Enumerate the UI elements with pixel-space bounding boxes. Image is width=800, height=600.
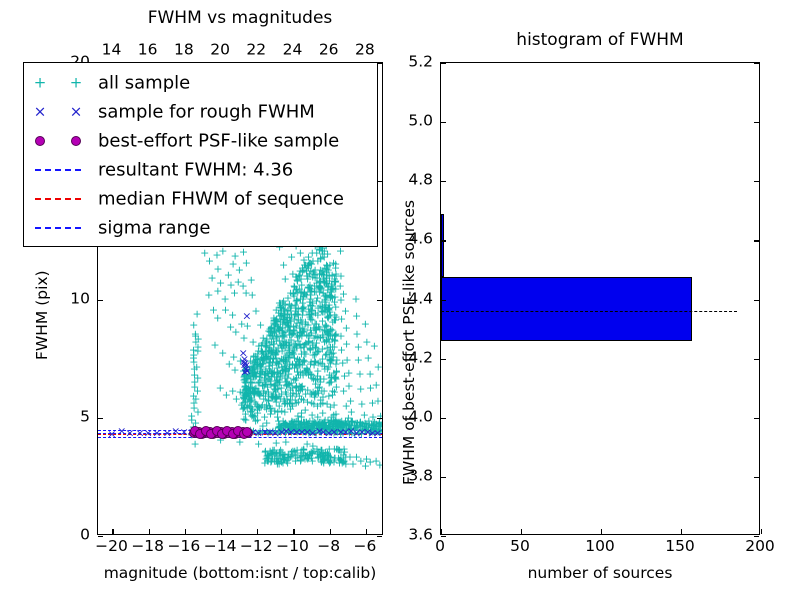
scatter-point-all-sample: +	[316, 283, 325, 294]
x-tick-bottom	[221, 529, 222, 534]
legend-item-label: best-effort PSF-like sample	[98, 131, 339, 152]
scatter-point-all-sample: +	[364, 353, 373, 364]
scatter-point-all-sample: +	[265, 449, 274, 460]
scatter-point-all-sample: +	[251, 305, 260, 316]
scatter-point-all-sample: +	[204, 289, 213, 300]
scatter-point-all-sample: +	[192, 309, 201, 320]
scatter-point-all-sample: +	[242, 257, 251, 268]
x-tick-label-bottom: −18	[131, 539, 164, 555]
hist-y-tick-left	[441, 240, 446, 241]
legend-item-label: all sample	[98, 73, 190, 94]
scatter-point-all-sample: +	[374, 361, 382, 372]
x-tick-label-bottom: −8	[317, 539, 340, 555]
scatter-point-all-sample: +	[319, 458, 328, 469]
scatter-point-all-sample: +	[313, 309, 322, 320]
scatter-point-rough-sample: ×	[242, 311, 251, 322]
hist-y-tick-right	[754, 418, 759, 419]
hist-y-tick-label: 5.0	[408, 113, 433, 129]
scatter-point-all-sample: +	[194, 334, 203, 345]
cross-marker: ×	[70, 105, 83, 120]
scatter-point-all-sample: +	[375, 459, 382, 470]
x-tick-label-bottom: −20	[95, 539, 128, 555]
hist-x-tick-label: 100	[585, 539, 615, 555]
legend-item-label: sample for rough FWHM	[98, 102, 315, 123]
scatter-point-all-sample: +	[308, 255, 317, 266]
scatter-point-rough-sample: ×	[125, 428, 134, 439]
scatter-point-all-sample: +	[287, 251, 296, 262]
histogram-plot-area	[441, 63, 759, 534]
scatter-point-all-sample: +	[221, 293, 230, 304]
hist-x-tick	[441, 529, 442, 534]
scatter-point-all-sample: +	[342, 322, 351, 333]
scatter-point-all-sample: +	[253, 354, 262, 365]
scatter-point-all-sample: +	[292, 452, 301, 463]
legend-box: ++all sample××sample for rough FWHMbest-…	[23, 62, 378, 247]
hist-y-tick-left	[441, 181, 446, 182]
hist-y-tick-left	[441, 477, 446, 478]
scatter-point-all-sample: +	[361, 318, 370, 329]
scatter-point-all-sample: +	[344, 367, 353, 378]
scatter-point-all-sample: +	[216, 277, 225, 288]
scatter-point-all-sample: +	[277, 457, 286, 468]
scatter-point-all-sample: +	[193, 385, 202, 396]
plus-marker: +	[34, 76, 47, 91]
hist-x-tick-label: 150	[665, 539, 695, 555]
plus-marker: +	[70, 76, 83, 91]
y-tick-right	[377, 418, 382, 419]
legend-item: sigma range	[24, 213, 377, 243]
y-tick-label: 0	[80, 527, 90, 543]
x-tick-bottom	[149, 529, 150, 534]
scatter-point-all-sample: +	[305, 297, 314, 308]
hist-x-tick-label: 0	[435, 539, 445, 555]
scatter-point-all-sample: +	[342, 354, 351, 365]
hist-y-tick-right	[754, 63, 759, 64]
scatter-point-all-sample: +	[355, 369, 364, 380]
scatter-point-all-sample: +	[282, 394, 291, 405]
circle-marker	[71, 136, 81, 146]
y-tick-left	[98, 300, 103, 301]
left-x-axis-label: magnitude (bottom:isnt / top:calib)	[104, 564, 377, 582]
scatter-point-all-sample: +	[306, 344, 315, 355]
scatter-point-all-sample: +	[332, 355, 341, 366]
hist-y-tick-right	[754, 181, 759, 182]
scatter-point-all-sample: +	[193, 346, 202, 357]
scatter-point-all-sample: +	[356, 383, 365, 394]
scatter-point-all-sample: +	[351, 293, 360, 304]
x-tick-bottom	[293, 529, 294, 534]
hist-x-tick-label: 200	[745, 539, 775, 555]
hist-x-tick	[601, 529, 602, 534]
x-tick-label-top: 26	[319, 43, 339, 59]
hist-y-tick-label: 4.0	[408, 409, 433, 425]
hist-y-tick-label: 3.8	[408, 468, 433, 484]
scatter-point-all-sample: +	[331, 269, 340, 280]
circle-marker	[35, 136, 45, 146]
y-tick-label: 5	[80, 409, 90, 425]
x-tick-bottom	[185, 529, 186, 534]
scatter-point-all-sample: +	[228, 310, 237, 321]
x-tick-label-bottom: −14	[204, 539, 237, 555]
left-y-axis-label: FWHM (pix)	[33, 270, 51, 360]
scatter-point-all-sample: +	[293, 366, 302, 377]
x-tick-label-bottom: −16	[168, 539, 201, 555]
scatter-point-all-sample: +	[331, 328, 340, 339]
legend-item: ××sample for rough FWHM	[24, 97, 377, 127]
y-tick-right	[377, 300, 382, 301]
x-tick-label-bottom: −10	[276, 539, 309, 555]
scatter-point-all-sample: +	[309, 322, 318, 333]
y-tick-left	[98, 418, 103, 419]
histogram-bar	[441, 214, 444, 278]
scatter-point-all-sample: +	[241, 409, 250, 420]
scatter-point-all-sample: +	[292, 341, 301, 352]
hist-y-tick-label: 5.2	[408, 54, 433, 70]
dashed-line	[35, 169, 81, 171]
hist-y-tick-left	[441, 63, 446, 64]
fwhm-histogram-plot	[440, 62, 760, 535]
x-tick-label-top: 14	[102, 43, 122, 59]
scatter-point-rough-sample: ×	[107, 428, 116, 439]
scatter-point-all-sample: +	[341, 306, 350, 317]
scatter-point-all-sample: +	[318, 354, 327, 365]
hist-x-tick	[761, 529, 762, 534]
scatter-point-all-sample: +	[316, 252, 325, 263]
hist-y-tick-left	[441, 359, 446, 360]
scatter-point-all-sample: +	[373, 396, 382, 407]
hist-y-tick-right	[754, 122, 759, 123]
scatter-point-all-sample: +	[339, 455, 348, 466]
scatter-point-all-sample: +	[292, 294, 301, 305]
scatter-point-all-sample: +	[251, 370, 260, 381]
scatter-point-all-sample: +	[247, 274, 256, 285]
hist-y-tick-right	[754, 300, 759, 301]
scatter-point-all-sample: +	[281, 364, 290, 375]
scatter-point-all-sample: +	[310, 269, 319, 280]
legend-item: ++all sample	[24, 68, 377, 98]
x-tick-label-top: 16	[138, 43, 158, 59]
scatter-point-all-sample: +	[372, 379, 381, 390]
histogram-bar	[441, 277, 692, 341]
scatter-point-all-sample: +	[323, 399, 332, 410]
hist-y-tick-label: 4.4	[408, 291, 433, 307]
scatter-point-all-sample: +	[304, 281, 313, 292]
hist-y-tick-right	[754, 240, 759, 241]
legend-item-label: resultant FWHM: 4.36	[98, 160, 293, 181]
dash-dot-line	[35, 227, 81, 229]
scatter-point-all-sample: +	[191, 438, 200, 449]
x-tick-label-top: 28	[355, 43, 375, 59]
x-tick-label-top: 24	[283, 43, 303, 59]
x-tick-bottom	[366, 529, 367, 534]
scatter-point-all-sample: +	[248, 289, 257, 300]
y-tick-right	[377, 536, 382, 537]
scatter-point-rough-sample: ×	[240, 366, 249, 377]
scatter-point-all-sample: +	[282, 380, 291, 391]
scatter-point-all-sample: +	[326, 373, 335, 384]
scatter-point-psf-sample	[242, 427, 252, 437]
histogram-x-axis-label: number of sources	[528, 564, 673, 582]
scatter-point-all-sample: +	[254, 388, 263, 399]
scatter-point-all-sample: +	[342, 339, 351, 350]
figure-canvas: FWHM vs magnitudes +++++++++++++++++++++…	[0, 0, 800, 600]
hist-y-tick-label: 4.2	[408, 350, 433, 366]
scatter-point-all-sample: +	[354, 355, 363, 366]
x-tick-label-bottom: −6	[353, 539, 376, 555]
hist-x-tick-label: 50	[510, 539, 530, 555]
hist-y-tick-left	[441, 418, 446, 419]
legend-item: resultant FWHM: 4.36	[24, 155, 377, 185]
scatter-point-all-sample: +	[370, 341, 379, 352]
scatter-point-all-sample: +	[239, 333, 248, 344]
hist-x-tick	[681, 529, 682, 534]
scatter-point-all-sample: +	[218, 347, 227, 358]
x-tick-label-top: 22	[246, 43, 266, 59]
x-tick-label-bottom: −12	[240, 539, 273, 555]
hist-y-tick-right	[754, 477, 759, 478]
y-tick-label: 10	[70, 291, 90, 307]
x-tick-bottom	[330, 529, 331, 534]
scatter-point-rough-sample: ×	[152, 428, 161, 439]
hist-y-tick-label: 4.6	[408, 232, 433, 248]
hist-y-tick-label: 4.8	[408, 173, 433, 189]
scatter-point-rough-sample: ×	[373, 428, 382, 439]
legend-item: best-effort PSF-like sample	[24, 126, 377, 156]
scatter-point-all-sample: +	[292, 272, 301, 283]
legend-item-label: sigma range	[98, 218, 210, 239]
scatter-point-all-sample: +	[218, 246, 227, 257]
scatter-point-all-sample: +	[344, 381, 353, 392]
legend-item-label: median FHWM of sequence	[98, 189, 344, 210]
hist-y-tick-right	[754, 359, 759, 360]
x-tick-bottom	[257, 529, 258, 534]
scatter-point-all-sample: +	[193, 373, 202, 384]
hist-y-tick-left	[441, 122, 446, 123]
x-tick-bottom	[112, 529, 113, 534]
left-plot-title: FWHM vs magnitudes	[148, 8, 333, 28]
hist-y-tick-left	[441, 300, 446, 301]
scatter-point-all-sample: +	[279, 330, 288, 341]
scatter-point-all-sample: +	[254, 402, 263, 413]
scatter-point-all-sample: +	[327, 280, 336, 291]
cross-marker: ×	[34, 105, 47, 120]
legend-item: median FHWM of sequence	[24, 184, 377, 214]
histogram-title: histogram of FWHM	[516, 30, 683, 50]
hist-x-tick	[521, 529, 522, 534]
resultant-fwhm-line	[441, 311, 737, 312]
x-tick-label-top: 18	[174, 43, 194, 59]
scatter-point-all-sample: +	[309, 398, 318, 409]
x-tick-label-top: 20	[210, 43, 230, 59]
scatter-point-all-sample: +	[271, 387, 280, 398]
dashed-line	[35, 198, 81, 200]
hist-y-tick-label: 3.6	[408, 527, 433, 543]
scatter-point-all-sample: +	[295, 381, 304, 392]
scatter-point-all-sample: +	[189, 397, 198, 408]
scatter-point-all-sample: +	[305, 311, 314, 322]
